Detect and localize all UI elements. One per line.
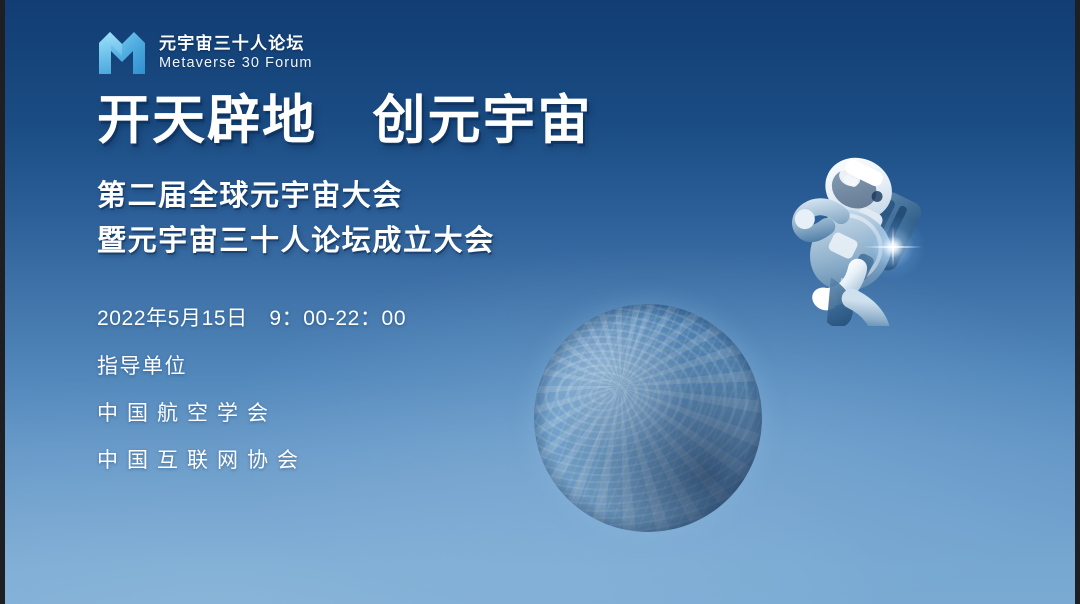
poster-canvas: 元宇宙三十人论坛 Metaverse 30 Forum 开天辟地 创元宇宙 第二… bbox=[0, 0, 1080, 604]
organizer-item-1: 中国互联网协会 bbox=[97, 447, 592, 474]
organizer-label: 指导单位 bbox=[97, 353, 592, 380]
brand-name-en: Metaverse 30 Forum bbox=[159, 55, 313, 72]
poster-copy-block: 开天辟地 创元宇宙 第二届全球元宇宙大会 暨元宇宙三十人论坛成立大会 2022年… bbox=[97, 92, 592, 475]
brand-logo-text: 元宇宙三十人论坛 Metaverse 30 Forum bbox=[159, 34, 313, 73]
organizer-item-0: 中国航空学会 bbox=[97, 400, 592, 427]
letterbox-bar-right bbox=[1075, 0, 1080, 604]
subtitle-line-2: 暨元宇宙三十人论坛成立大会 bbox=[97, 221, 592, 262]
brand-logo[interactable]: 元宇宙三十人论坛 Metaverse 30 Forum bbox=[97, 29, 313, 77]
subtitle-line-1: 第二届全球元宇宙大会 bbox=[97, 176, 592, 217]
headline-part-2: 创元宇宙 bbox=[372, 91, 592, 150]
event-datetime: 2022年5月15日 9：00-22：00 bbox=[97, 305, 592, 332]
page-title: 开天辟地 创元宇宙 bbox=[97, 92, 592, 149]
astronaut-figure bbox=[776, 146, 944, 326]
metaverse-m-logo-icon bbox=[97, 29, 147, 77]
brand-name-cn: 元宇宙三十人论坛 bbox=[159, 34, 313, 54]
letterbox-bar-left bbox=[0, 0, 5, 604]
headline-part-1: 开天辟地 bbox=[97, 91, 317, 150]
